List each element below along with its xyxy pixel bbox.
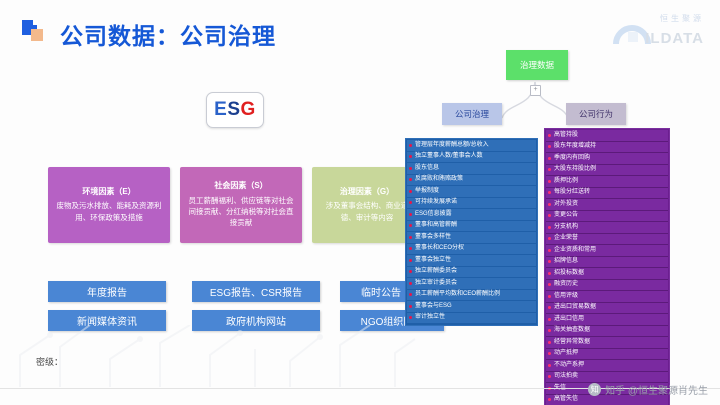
bullet-icon (548, 295, 551, 298)
governance-item-row[interactable]: 董事长和CEO分权 (407, 244, 536, 256)
flow-node-governance-data[interactable]: 治理数据 (506, 50, 568, 80)
behavior-item-row[interactable]: 信用评级 (546, 291, 668, 303)
behavior-item-label: 动产抵押 (554, 350, 666, 358)
flow-node-corporate-behavior[interactable]: 公司行为 (566, 103, 626, 125)
behavior-item-row[interactable]: 海关抽查数据 (546, 326, 668, 338)
behavior-item-label: 分支机构 (554, 224, 666, 232)
flow-node-corporate-governance[interactable]: 公司治理 (442, 103, 502, 125)
behavior-item-label: 变更公告 (554, 212, 666, 220)
behavior-item-row[interactable]: 高管持股 (546, 130, 668, 142)
behavior-item-label: 季度内有回购 (554, 155, 666, 163)
governance-item-row[interactable]: 董事和高管薪酬 (407, 221, 536, 233)
bullet-icon (548, 191, 551, 194)
governance-item-row[interactable]: 董事会多样性 (407, 232, 536, 244)
brand-logo: 恒生聚源 ILDATA (602, 10, 706, 50)
behavior-item-label: 每股分红送转 (554, 189, 666, 197)
governance-item-label: 管理层年度薪酬总额/总收入 (415, 142, 534, 150)
governance-item-label: 董事和高管薪酬 (415, 222, 534, 230)
bullet-icon (548, 157, 551, 160)
source-button-esg-csr-report[interactable]: ESG报告、CSR报告 (192, 281, 320, 302)
bullet-icon (409, 178, 412, 181)
governance-item-label: 独立薪酬委员会 (415, 268, 534, 276)
behavior-item-label: 信用评级 (554, 293, 666, 301)
behavior-item-row[interactable]: 企业资质和常用 (546, 245, 668, 257)
behavior-item-label: 经营异常数据 (554, 339, 666, 347)
governance-item-row[interactable]: 独立薪酬委员会 (407, 267, 536, 279)
factor-title: 治理因素（G） (340, 187, 394, 197)
bullet-icon (409, 201, 412, 204)
behavior-item-row[interactable]: 质押比例 (546, 176, 668, 188)
behavior-item-label: 股东年度增减持 (554, 143, 666, 151)
governance-item-label: 员工薪酬平均数和CEO薪酬比例 (415, 291, 534, 299)
governance-item-label: ESG信息披露 (415, 211, 534, 219)
governance-item-label: 董事会多样性 (415, 234, 534, 242)
esg-letter-s: S (227, 99, 240, 121)
governance-item-row[interactable]: 举报制度 (407, 186, 536, 198)
bullet-icon (409, 259, 412, 262)
bullet-icon (548, 134, 551, 137)
behavior-item-label: 对外投资 (554, 201, 666, 209)
source-button-government-site[interactable]: 政府机构网站 (192, 310, 320, 331)
bullet-icon (548, 168, 551, 171)
secrecy-label: 密级： (36, 355, 63, 368)
bullet-icon (548, 180, 551, 183)
page-title: 公司数据：公司治理 (60, 17, 276, 51)
governance-item-list: 管理层年度薪酬总额/总收入独立董事人数/董事会人数股东信息反腐败和贿赂政策举报制… (405, 138, 538, 326)
behavior-item-row[interactable]: 每股分红送转 (546, 188, 668, 200)
governance-item-row[interactable]: 管理层年度薪酬总额/总收入 (407, 140, 536, 152)
behavior-item-label: 招投标数据 (554, 270, 666, 278)
bullet-icon (548, 260, 551, 263)
behavior-item-label: 司法拍卖 (554, 373, 666, 381)
bullet-icon (409, 144, 412, 147)
bullet-icon (409, 213, 412, 216)
bullet-icon (548, 318, 551, 321)
bullet-icon (548, 226, 551, 229)
bullet-icon (409, 316, 412, 319)
behavior-item-row[interactable]: 变更公告 (546, 211, 668, 223)
watermark-text: 知乎 @恒生聚源肖先生 (605, 382, 708, 397)
behavior-item-label: 融资历史 (554, 281, 666, 289)
governance-item-row[interactable]: 独立审计委员会 (407, 278, 536, 290)
factor-box-environment: 环境因素（E） 废物及污水排放、能耗及资源利用、环保政策及措施 (48, 167, 170, 243)
governance-item-label: 董事会独立性 (415, 257, 534, 265)
behavior-item-row[interactable]: 进出口贸易数据 (546, 303, 668, 315)
source-button-annual-report[interactable]: 年度报告 (48, 281, 166, 302)
factor-box-social: 社会因素（S） 员工薪酬福利、供应链等对社会间接贡献、分红纳税等对社会直接贡献 (180, 167, 302, 243)
governance-item-row[interactable]: ESG信息披露 (407, 209, 536, 221)
governance-item-row[interactable]: 反腐败和贿赂政策 (407, 175, 536, 187)
esg-letter-e: E (214, 99, 227, 121)
factor-title: 环境因素（E） (82, 187, 135, 197)
bullet-icon (548, 352, 551, 355)
zhihu-avatar-icon: 知 (588, 383, 601, 396)
bullet-icon (548, 214, 551, 217)
behavior-item-label: 进出口贸易数据 (554, 304, 666, 312)
behavior-item-row[interactable]: 季度内有回购 (546, 153, 668, 165)
governance-item-label: 审计独立性 (415, 314, 534, 322)
behavior-item-label: 企业荣誉 (554, 235, 666, 243)
governance-item-row[interactable]: 董事会与ESG (407, 301, 536, 313)
bullet-icon (548, 329, 551, 332)
brand-name-cn: 恒生聚源 (660, 13, 704, 24)
behavior-item-label: 企业资质和常用 (554, 247, 666, 255)
behavior-item-row[interactable]: 不动产系押 (546, 360, 668, 372)
brand-name-en: ILDATA (645, 30, 704, 47)
behavior-item-label: 海关抽查数据 (554, 327, 666, 335)
bullet-icon (548, 272, 551, 275)
bullet-icon (548, 375, 551, 378)
source-button-news-media[interactable]: 新闻媒体资讯 (48, 310, 166, 331)
bullet-icon (548, 364, 551, 367)
bullet-icon (409, 270, 412, 273)
governance-item-label: 独立审计委员会 (415, 280, 534, 288)
governance-item-row[interactable]: 审计独立性 (407, 313, 536, 325)
company-logo-squares-icon (22, 20, 48, 46)
bullet-icon (409, 190, 412, 193)
behavior-item-row[interactable]: 进出口信用 (546, 314, 668, 326)
slide-canvas: 公司数据：公司治理 恒生聚源 ILDATA E S G 环境因素（E） 废物及污… (0, 0, 720, 405)
behavior-item-row[interactable]: 招牌信息 (546, 257, 668, 269)
behavior-item-label: 进出口信用 (554, 316, 666, 324)
behavior-item-row[interactable]: 股东年度增减持 (546, 142, 668, 154)
behavior-item-row[interactable]: 经营异常数据 (546, 337, 668, 349)
bullet-icon (548, 341, 551, 344)
governance-item-label: 独立董事人数/董事会人数 (415, 153, 534, 161)
governance-item-row[interactable]: 董事会独立性 (407, 255, 536, 267)
behavior-item-row[interactable]: 分支机构 (546, 222, 668, 234)
governance-item-row[interactable]: 可持续发展承诺 (407, 198, 536, 210)
bullet-icon (548, 203, 551, 206)
bullet-icon (548, 237, 551, 240)
behavior-item-label: 不动产系押 (554, 362, 666, 370)
behavior-item-row[interactable]: 动产抵押 (546, 349, 668, 361)
governance-item-label: 反腐败和贿赂政策 (415, 176, 534, 184)
watermark: 知 知乎 @恒生聚源肖先生 (588, 382, 708, 397)
governance-item-label: 举报制度 (415, 188, 534, 196)
behavior-item-label: 质押比例 (554, 178, 666, 186)
governance-item-row[interactable]: 独立董事人数/董事会人数 (407, 152, 536, 164)
bullet-icon (409, 167, 412, 170)
behavior-item-label: 高管失信 (554, 396, 666, 404)
bullet-icon (409, 247, 412, 250)
bullet-icon (409, 224, 412, 227)
bullet-icon (409, 305, 412, 308)
governance-item-label: 董事长和CEO分权 (415, 245, 534, 253)
governance-item-row[interactable]: 股东信息 (407, 163, 536, 175)
behavior-item-list: 高管持股股东年度增减持季度内有回购大股东持股比例质押比例每股分红送转对外投资变更… (544, 128, 670, 405)
bullet-icon (409, 293, 412, 296)
governance-item-label: 董事会与ESG (415, 303, 534, 311)
behavior-item-label: 招牌信息 (554, 258, 666, 266)
bullet-icon (409, 282, 412, 285)
bullet-icon (409, 236, 412, 239)
esg-badge: E S G (206, 92, 264, 128)
governance-item-label: 股东信息 (415, 165, 534, 173)
bullet-icon (548, 306, 551, 309)
behavior-item-row[interactable]: 企业荣誉 (546, 234, 668, 246)
behavior-item-row[interactable]: 招投标数据 (546, 268, 668, 280)
bullet-icon (409, 155, 412, 158)
factor-title: 社会因素（S） (214, 181, 267, 191)
governance-item-label: 可持续发展承诺 (415, 199, 534, 207)
behavior-item-label: 高管持股 (554, 132, 666, 140)
bullet-icon (548, 283, 551, 286)
esg-letter-g: G (241, 99, 256, 121)
factor-desc: 废物及污水排放、能耗及资源利用、环保政策及措施 (55, 200, 163, 223)
plus-icon[interactable]: + (530, 85, 541, 96)
governance-item-row[interactable]: 员工薪酬平均数和CEO薪酬比例 (407, 290, 536, 302)
factor-desc: 涉及董事会结构、商业道德、审计等内容 (319, 200, 415, 223)
behavior-item-row[interactable]: 大股东持股比例 (546, 165, 668, 177)
bullet-icon (548, 398, 551, 401)
factor-desc: 员工薪酬福利、供应链等对社会间接贡献、分红纳税等对社会直接贡献 (187, 195, 295, 229)
bullet-icon (548, 249, 551, 252)
bullet-icon (548, 145, 551, 148)
behavior-item-row[interactable]: 融资历史 (546, 280, 668, 292)
behavior-item-label: 大股东持股比例 (554, 166, 666, 174)
behavior-item-row[interactable]: 对外投资 (546, 199, 668, 211)
